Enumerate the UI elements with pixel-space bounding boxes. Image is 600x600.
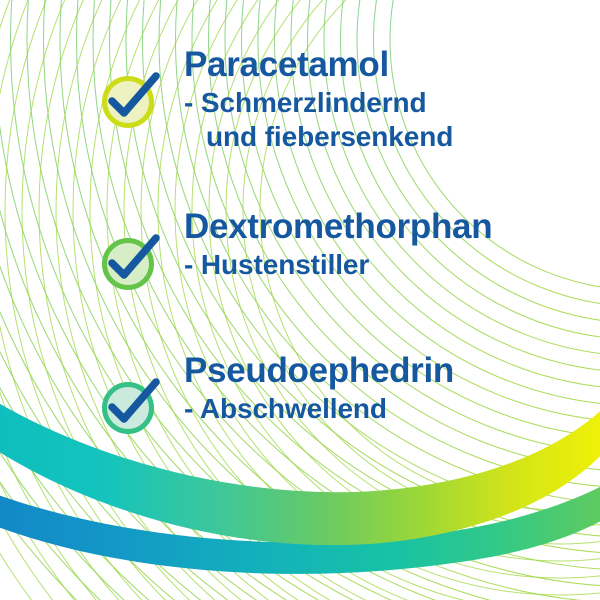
benefit-subtitle-line: - Schmerzlindernd <box>184 86 600 120</box>
benefit-item-paracetamol: Paracetamol - Schmerzlindernd und fieber… <box>96 44 600 154</box>
benefit-item-dextromethorphan: Dextromethorphan - Hustenstiller <box>96 206 600 294</box>
check-circle-icon <box>96 222 168 294</box>
benefit-item-pseudoephedrin: Pseudoephedrin - Abschwellend <box>96 350 600 438</box>
benefit-text: Pseudoephedrin - Abschwellend <box>168 350 600 426</box>
check-mark-icon <box>96 60 168 132</box>
benefit-text: Paracetamol - Schmerzlindernd und fieber… <box>168 44 600 154</box>
benefit-title: Dextromethorphan <box>184 206 600 248</box>
check-mark-icon <box>96 366 168 438</box>
check-mark-icon <box>96 222 168 294</box>
check-circle-icon <box>96 60 168 132</box>
check-circle-icon <box>96 366 168 438</box>
benefit-text: Dextromethorphan - Hustenstiller <box>168 206 600 282</box>
benefit-subtitle-line: und fiebersenkend <box>184 120 600 154</box>
benefits-list: Paracetamol - Schmerzlindernd und fieber… <box>0 0 600 600</box>
benefit-subtitle-line: - Hustenstiller <box>184 248 600 282</box>
benefit-title: Paracetamol <box>184 44 600 86</box>
promo-graphic: Paracetamol - Schmerzlindernd und fieber… <box>0 0 600 600</box>
benefit-title: Pseudoephedrin <box>184 350 600 392</box>
benefit-subtitle-line: - Abschwellend <box>184 392 600 426</box>
